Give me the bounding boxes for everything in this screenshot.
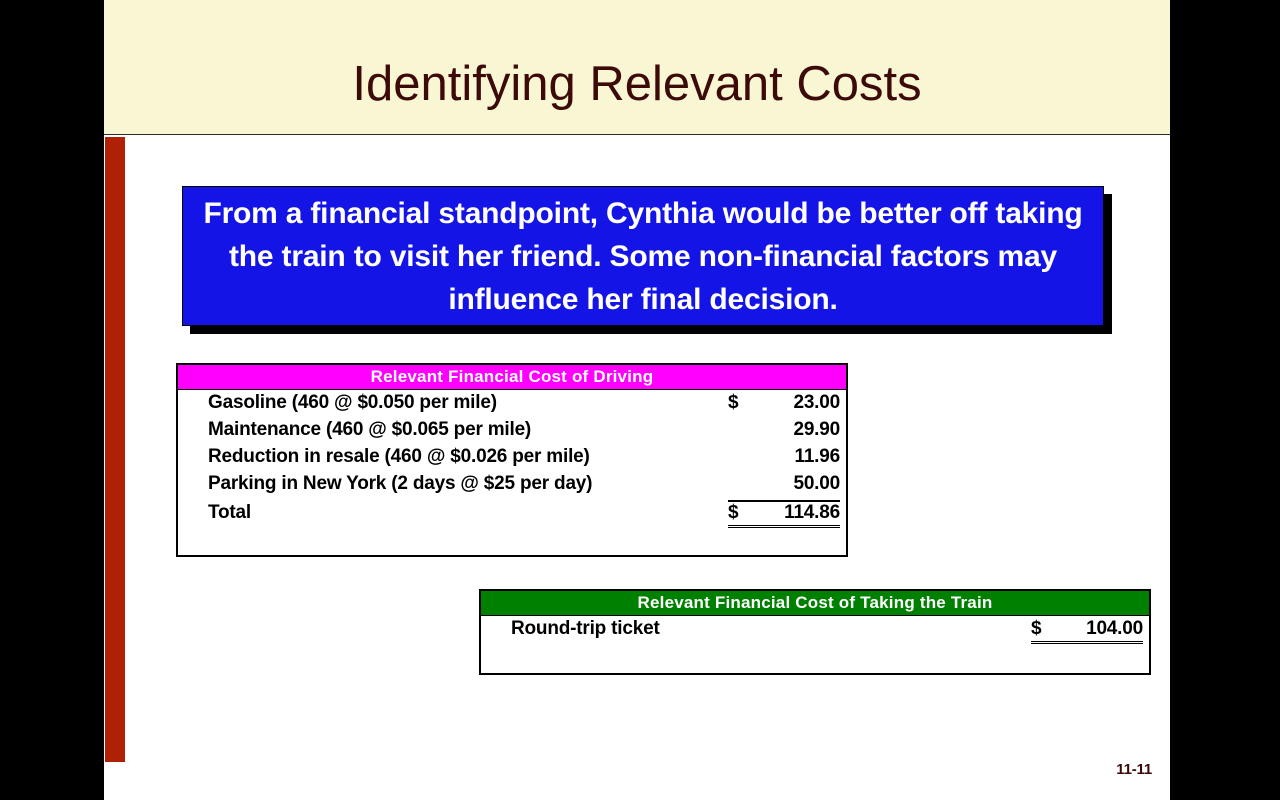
table-spacer-row xyxy=(178,527,846,555)
cost-amount-value: 29.90 xyxy=(762,419,840,441)
cost-item-label: Reduction in resale (460 @ $0.026 per mi… xyxy=(208,446,728,468)
callout-box: From a financial standpoint, Cynthia wou… xyxy=(182,186,1104,326)
table-body-driving: Gasoline (460 @ $0.050 per mile)$23.00Ma… xyxy=(178,390,846,555)
table-row: Parking in New York (2 days @ $25 per da… xyxy=(178,473,846,500)
cost-amount-value: 114.86 xyxy=(762,500,840,528)
callout-text: From a financial standpoint, Cynthia wou… xyxy=(197,192,1089,321)
cost-currency-symbol: $ xyxy=(728,500,762,528)
table-row: Gasoline (460 @ $0.050 per mile)$23.00 xyxy=(178,392,846,419)
cost-item-label: Parking in New York (2 days @ $25 per da… xyxy=(208,473,728,495)
cost-item-label: Gasoline (460 @ $0.050 per mile) xyxy=(208,392,728,414)
table-spacer-row xyxy=(481,645,1149,673)
table-relevant-cost-of-driving: Relevant Financial Cost of Driving Gasol… xyxy=(176,363,848,557)
cost-currency-symbol: $ xyxy=(728,392,762,414)
page-title: Identifying Relevant Costs xyxy=(104,60,1170,109)
cost-amount-value: 50.00 xyxy=(762,473,840,495)
table-header-train: Relevant Financial Cost of Taking the Tr… xyxy=(481,591,1149,616)
cost-item-label: Maintenance (460 @ $0.065 per mile) xyxy=(208,419,728,441)
table-row: Round-trip ticket$104.00 xyxy=(481,618,1149,645)
table-row: Maintenance (460 @ $0.065 per mile)29.90 xyxy=(178,419,846,446)
table-relevant-cost-of-train: Relevant Financial Cost of Taking the Tr… xyxy=(479,589,1151,675)
table-row: Total$114.86 xyxy=(178,500,846,527)
table-body-train: Round-trip ticket$104.00 xyxy=(481,616,1149,673)
slide-title-band: Identifying Relevant Costs xyxy=(104,0,1170,135)
slide-number: 11-11 xyxy=(1116,761,1152,778)
cost-amount-value: 11.96 xyxy=(762,446,840,468)
cost-currency-symbol: $ xyxy=(1031,618,1065,644)
cost-item-label: Round-trip ticket xyxy=(511,618,1031,640)
cost-item-label: Total xyxy=(208,502,728,524)
cost-amount-value: 104.00 xyxy=(1065,618,1143,644)
table-header-driving: Relevant Financial Cost of Driving xyxy=(178,365,846,390)
cost-amount-value: 23.00 xyxy=(762,392,840,414)
table-row: Reduction in resale (460 @ $0.026 per mi… xyxy=(178,446,846,473)
left-accent-bar xyxy=(105,137,125,762)
presentation-slide: Identifying Relevant Costs From a financ… xyxy=(104,0,1170,800)
